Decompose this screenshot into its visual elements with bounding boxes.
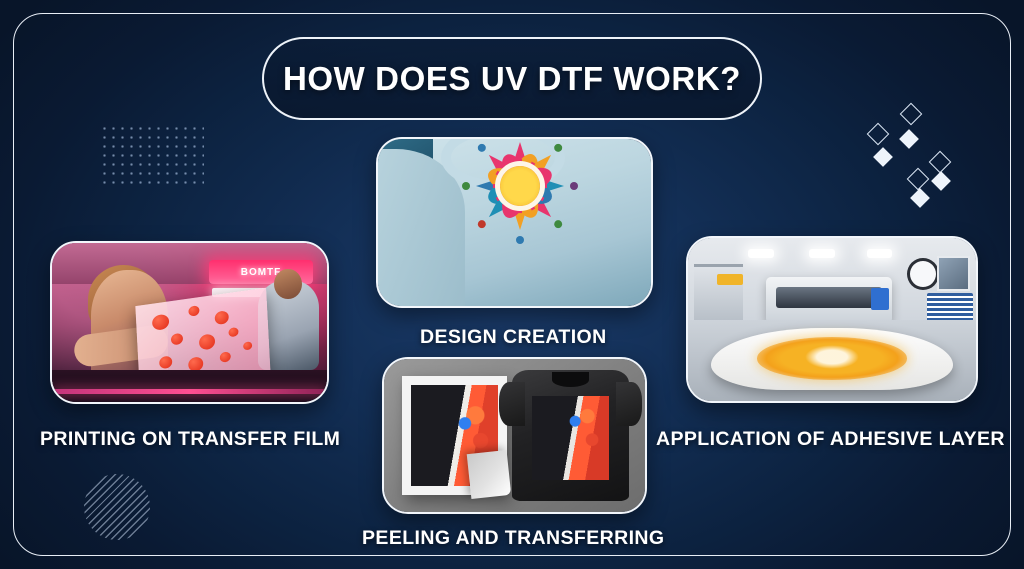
mandala-design-icon [466, 139, 574, 240]
step-photo-design-creation [378, 139, 651, 306]
page-title-text: HOW DOES UV DTF WORK? [283, 60, 741, 98]
step-photo-printing-on-transfer-film: BOMTF [52, 243, 327, 402]
black-tshirt [512, 370, 629, 502]
step-label-application-of-adhesive-layer: APPLICATION OF ADHESIVE LAYER [656, 428, 1005, 451]
step-card-printing-on-transfer-film[interactable]: BOMTF [50, 241, 329, 404]
wall-clock-icon [907, 258, 939, 290]
step-photo-peeling-and-transferring [384, 359, 645, 512]
step-label-printing-on-transfer-film: PRINTING ON TRANSFER FILM [40, 428, 340, 451]
step-card-design-creation[interactable] [376, 137, 653, 308]
step-photo-application-of-adhesive-layer [688, 238, 976, 401]
dot-grid-icon [100, 124, 204, 188]
diamond-cluster-icon [862, 96, 972, 206]
step-card-peeling-and-transferring[interactable] [382, 357, 647, 514]
peeling-transfer-sheet [402, 376, 506, 495]
step-label-peeling-and-transferring: PEELING AND TRANSFERRING [362, 527, 664, 550]
page-title: HOW DOES UV DTF WORK? [262, 37, 762, 120]
step-label-design-creation: DESIGN CREATION [420, 326, 607, 349]
adhesive-powder [757, 337, 907, 379]
dtf-printer [766, 277, 893, 323]
step-card-application-of-adhesive-layer[interactable] [686, 236, 978, 403]
infographic-poster: HOW DOES UV DTF WORK? BOMTF [0, 0, 1024, 569]
hatched-circle-icon [84, 474, 150, 540]
